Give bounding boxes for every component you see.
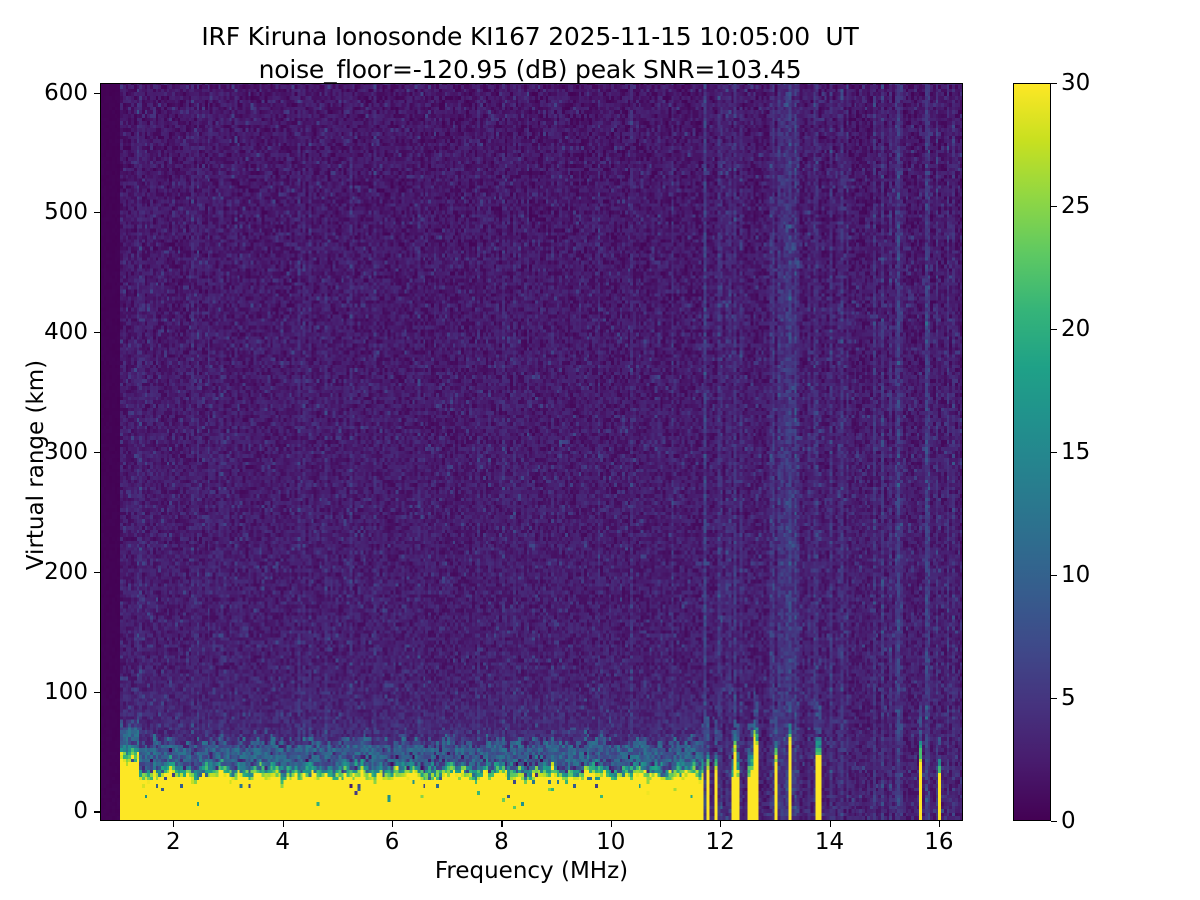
y-tick-mark (94, 692, 100, 693)
colorbar-tick-mark (1051, 206, 1057, 207)
y-tick-mark (94, 93, 100, 94)
y-tick-label: 100 (44, 679, 88, 705)
colorbar-tick-mark (1051, 329, 1057, 330)
colorbar-tick-label: 20 (1061, 316, 1090, 342)
y-tick-mark (94, 332, 100, 333)
y-tick-label: 600 (44, 80, 88, 106)
x-tick-label: 6 (385, 829, 400, 855)
x-tick-mark (830, 821, 831, 827)
x-tick-mark (392, 821, 393, 827)
colorbar-tick-mark (1051, 698, 1057, 699)
y-tick-label: 300 (44, 439, 88, 465)
x-tick-label: 4 (275, 829, 290, 855)
x-tick-mark (939, 821, 940, 827)
x-tick-mark (611, 821, 612, 827)
y-tick-mark (94, 212, 100, 213)
colorbar-tick-mark (1051, 83, 1057, 84)
x-tick-label: 12 (706, 829, 735, 855)
y-tick-mark (94, 572, 100, 573)
ionogram-figure: IRF Kiruna Ionosonde KI167 2025-11-15 10… (0, 0, 1200, 900)
x-tick-label: 14 (815, 829, 844, 855)
x-axis-label: Frequency (MHz) (100, 858, 963, 884)
colorbar-tick-label: 5 (1061, 685, 1076, 711)
colorbar-gradient (1014, 84, 1050, 820)
title-line-1: IRF Kiruna Ionosonde KI167 2025-11-15 10… (0, 20, 1060, 53)
y-tick-mark (94, 811, 100, 812)
colorbar-tick-label: 30 (1061, 70, 1090, 96)
colorbar-tick-label: 10 (1061, 562, 1090, 588)
ionogram-heatmap (101, 84, 962, 820)
ionogram-plot-area[interactable] (100, 83, 963, 821)
y-tick-label: 200 (44, 559, 88, 585)
x-tick-mark (173, 821, 174, 827)
x-tick-mark (720, 821, 721, 827)
y-tick-mark (94, 452, 100, 453)
colorbar-tick-label: 15 (1061, 439, 1090, 465)
y-tick-label: 0 (73, 798, 88, 824)
colorbar-tick-mark (1051, 821, 1057, 822)
colorbar-tick-mark (1051, 575, 1057, 576)
colorbar (1013, 83, 1051, 821)
y-axis-label: Virtual range (km) (23, 265, 49, 665)
title-line-2: noise_floor=-120.95 (dB) peak SNR=103.45 (0, 53, 1060, 86)
figure-title: IRF Kiruna Ionosonde KI167 2025-11-15 10… (0, 20, 1060, 86)
x-tick-label: 10 (596, 829, 625, 855)
colorbar-tick-mark (1051, 452, 1057, 453)
y-tick-label: 400 (44, 319, 88, 345)
colorbar-tick-label: 25 (1061, 193, 1090, 219)
x-tick-mark (283, 821, 284, 827)
x-tick-label: 2 (166, 829, 181, 855)
x-tick-mark (501, 821, 502, 827)
x-tick-label: 16 (924, 829, 953, 855)
colorbar-tick-label: 0 (1061, 808, 1076, 834)
x-tick-label: 8 (494, 829, 509, 855)
y-tick-label: 500 (44, 199, 88, 225)
